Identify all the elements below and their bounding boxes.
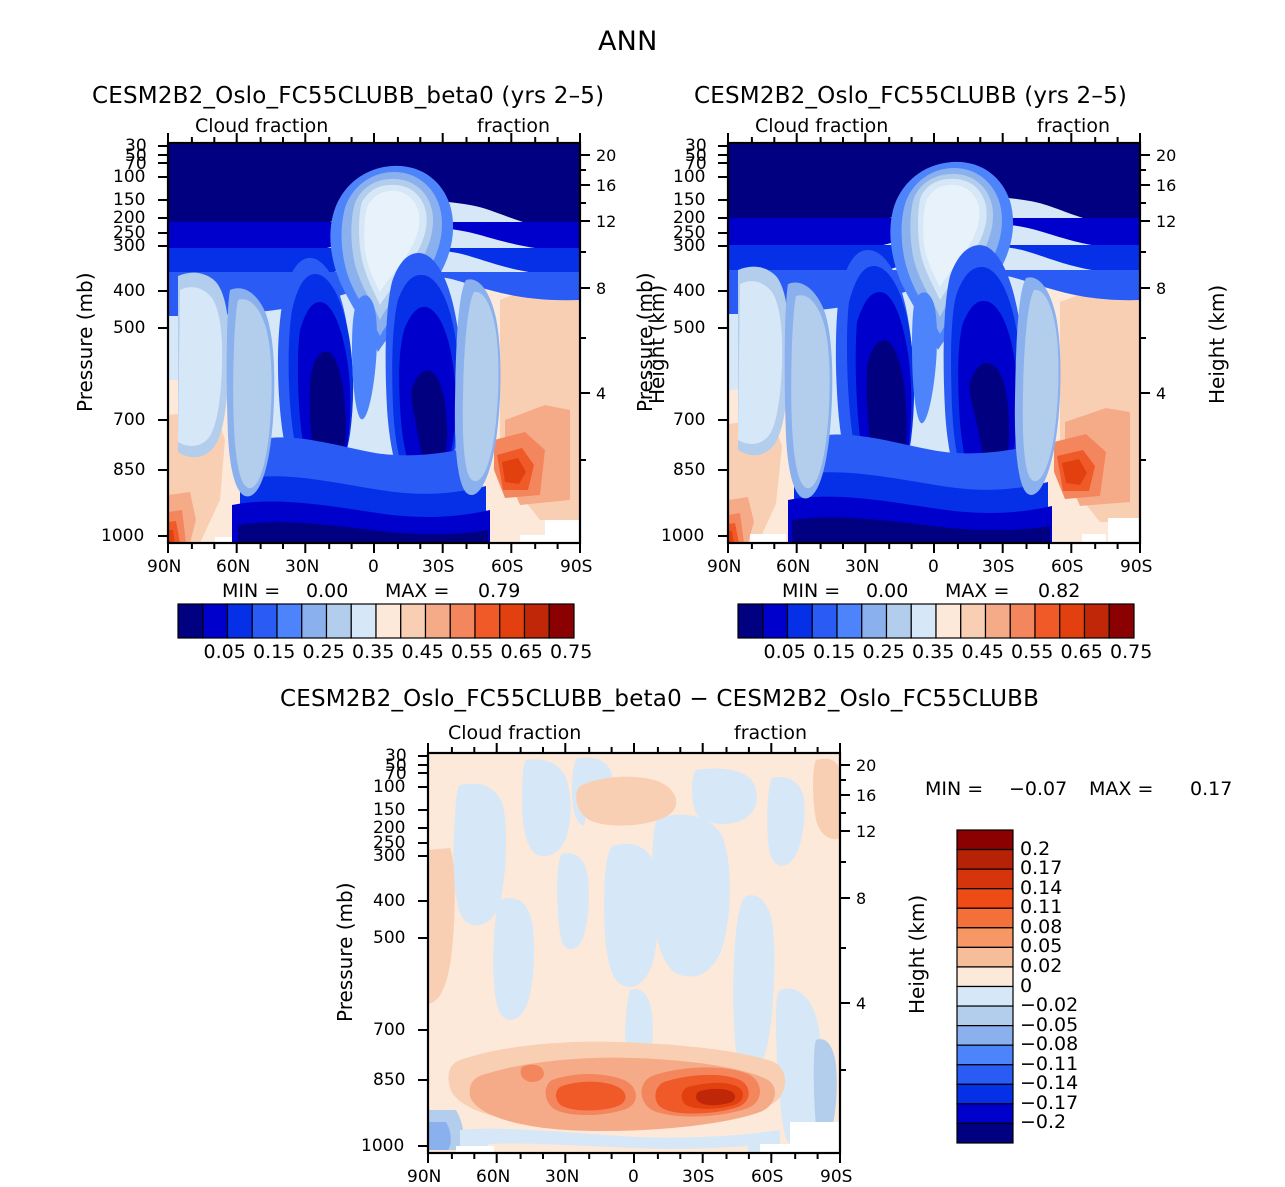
panel-difference-ytick-500: 500	[373, 928, 405, 948]
panel-control-htick-12: 12	[1156, 212, 1176, 231]
panel-difference-ytick-850: 850	[373, 1070, 405, 1090]
colorbar-swatch	[957, 869, 1013, 889]
panel-difference-xtick-60N: 60N	[476, 1167, 510, 1187]
panel-control-xtick-0: 0	[928, 557, 939, 577]
panel-control-min-value: 0.00	[866, 580, 908, 602]
colorbar-swatch	[957, 928, 1013, 948]
colorbar-swatch	[957, 1065, 1013, 1085]
colorbar-swatch	[957, 908, 1013, 928]
panel-control-contours	[728, 143, 1140, 543]
panel-control-ytick-1000: 1000	[661, 526, 704, 546]
panel-control-xtick-90N: 90N	[707, 557, 741, 577]
panel-control-max-value: 0.82	[1038, 580, 1080, 602]
panel-control-max-label: MAX =	[945, 580, 1009, 602]
panel-difference-ytick-700: 700	[373, 1020, 405, 1040]
panel-difference-max-label: MAX =	[1089, 778, 1153, 800]
panel-control-htick-16: 16	[1156, 176, 1176, 195]
panel-difference-xtick-0: 0	[628, 1167, 639, 1187]
panel-test-xtick-30N: 30N	[285, 557, 319, 577]
colorbar-swatch	[1109, 604, 1134, 638]
panel-control-ytick-150: 150	[673, 190, 705, 210]
colorbar-swatch	[957, 830, 1013, 850]
panel-difference-min-value: −0.07	[1009, 778, 1067, 800]
panel-test-xtick-60N: 60N	[216, 557, 250, 577]
panel-difference-ytick-150: 150	[373, 800, 405, 820]
panel-difference-pressure-axis-title: Pressure (mb)	[333, 882, 357, 1022]
panel-control-xtick-30S: 30S	[982, 557, 1014, 577]
panel-difference-htick-4: 4	[856, 994, 866, 1013]
panel-test-xtick-30S: 30S	[422, 557, 454, 577]
colorbar-swatch	[957, 889, 1013, 909]
panel-difference-ytick-1000: 1000	[361, 1136, 404, 1156]
panel-test-ytick-500: 500	[113, 318, 145, 338]
panel-difference-height-axis-title: Height (km)	[905, 895, 929, 1014]
colorbar-swatch	[986, 604, 1011, 638]
panel-test-min-label: MIN =	[222, 580, 280, 602]
panel-difference-xtick-30N: 30N	[545, 1167, 579, 1187]
panel-difference-htick-8: 8	[856, 889, 866, 908]
colorbar-swatch	[957, 967, 1013, 987]
colorbar-swatch	[1060, 604, 1085, 638]
panel-control-htick-8: 8	[1156, 279, 1166, 298]
panel-difference-min-label: MIN =	[925, 778, 983, 800]
panel-difference-contours	[428, 753, 840, 1153]
panel-test-ytick-850: 850	[113, 460, 145, 480]
panel-control-min-label: MIN =	[782, 580, 840, 602]
panel-test-xtick-90N: 90N	[147, 557, 181, 577]
panel-test-max-value: 0.79	[478, 580, 520, 602]
panel-test-ytick-100: 100	[113, 167, 145, 187]
panel-test-ytick-1000: 1000	[101, 526, 144, 546]
panel-control-ytick-400: 400	[673, 281, 705, 301]
panel-difference-xtick-60S: 60S	[751, 1167, 783, 1187]
panel-test-pressure-axis-title: Pressure (mb)	[73, 272, 97, 412]
panel-difference-plot	[260, 610, 980, 1185]
colorbar-swatch	[957, 1026, 1013, 1046]
panel-control-ytick-300: 300	[673, 236, 705, 256]
panel-test-contours	[168, 143, 580, 543]
colorbar-swatch	[957, 1006, 1013, 1026]
panel-test-xtick-60S: 60S	[491, 557, 523, 577]
panel-difference-ytick-400: 400	[373, 891, 405, 911]
panel-control-ytick-850: 850	[673, 460, 705, 480]
colorbar-swatch	[957, 987, 1013, 1007]
colorbar-swatch	[1035, 604, 1060, 638]
panel-control-ytick-700: 700	[673, 410, 705, 430]
colorbar-swatch	[203, 604, 228, 638]
colorbar-swatch	[1010, 604, 1035, 638]
colorbar-tick-label: 0.75	[1110, 641, 1152, 663]
panel-test-max-label: MAX =	[385, 580, 449, 602]
panel-control-xtick-90S: 90S	[1120, 557, 1152, 577]
colorbar-swatch	[957, 850, 1013, 870]
colorbar-swatch	[1085, 604, 1110, 638]
panel-test-ytick-400: 400	[113, 281, 145, 301]
colorbar-tick-label: 0.05	[204, 641, 246, 663]
panel-control-ytick-500: 500	[673, 318, 705, 338]
panel-test-min-value: 0.00	[306, 580, 348, 602]
panel-difference-ytick-100: 100	[373, 777, 405, 797]
panel-difference-htick-12: 12	[856, 822, 876, 841]
panel-test-ytick-150: 150	[113, 190, 145, 210]
colorbar-tick-label: −0.2	[1020, 1111, 1066, 1133]
colorbar-swatch	[957, 1123, 1013, 1143]
colorbar-swatch	[228, 604, 253, 638]
panel-control-height-axis-title: Height (km)	[1205, 285, 1229, 404]
panel-difference-htick-20: 20	[856, 756, 876, 775]
panel-difference-htick-16: 16	[856, 786, 876, 805]
panel-difference-xtick-30S: 30S	[682, 1167, 714, 1187]
colorbar-tick-label: 0.65	[1061, 641, 1103, 663]
panel-control-htick-4: 4	[1156, 384, 1166, 403]
panel-difference-ytick-300: 300	[373, 846, 405, 866]
panel-test-ytick-300: 300	[113, 236, 145, 256]
panel-difference-xtick-90S: 90S	[820, 1167, 852, 1187]
panel-difference-max-value: 0.17	[1190, 778, 1232, 800]
colorbar-tick-label: 0.55	[1011, 641, 1053, 663]
colorbar-swatch	[178, 604, 203, 638]
panel-difference-xtick-90N: 90N	[407, 1167, 441, 1187]
panel-control-xtick-30N: 30N	[845, 557, 879, 577]
panel-control-htick-20: 20	[1156, 146, 1176, 165]
panel-control-ytick-100: 100	[673, 167, 705, 187]
panel-test-xtick-0: 0	[368, 557, 379, 577]
panel-control-pressure-axis-title: Pressure (mb)	[633, 272, 657, 412]
panel-control-xtick-60S: 60S	[1051, 557, 1083, 577]
colorbar-swatch	[957, 947, 1013, 967]
panel-test-ytick-700: 700	[113, 410, 145, 430]
panel-difference-colorbar	[957, 830, 1013, 1143]
colorbar-swatch	[957, 1084, 1013, 1104]
colorbar-swatch	[957, 1104, 1013, 1124]
panel-control-xtick-60N: 60N	[776, 557, 810, 577]
colorbar-swatch	[957, 1045, 1013, 1065]
